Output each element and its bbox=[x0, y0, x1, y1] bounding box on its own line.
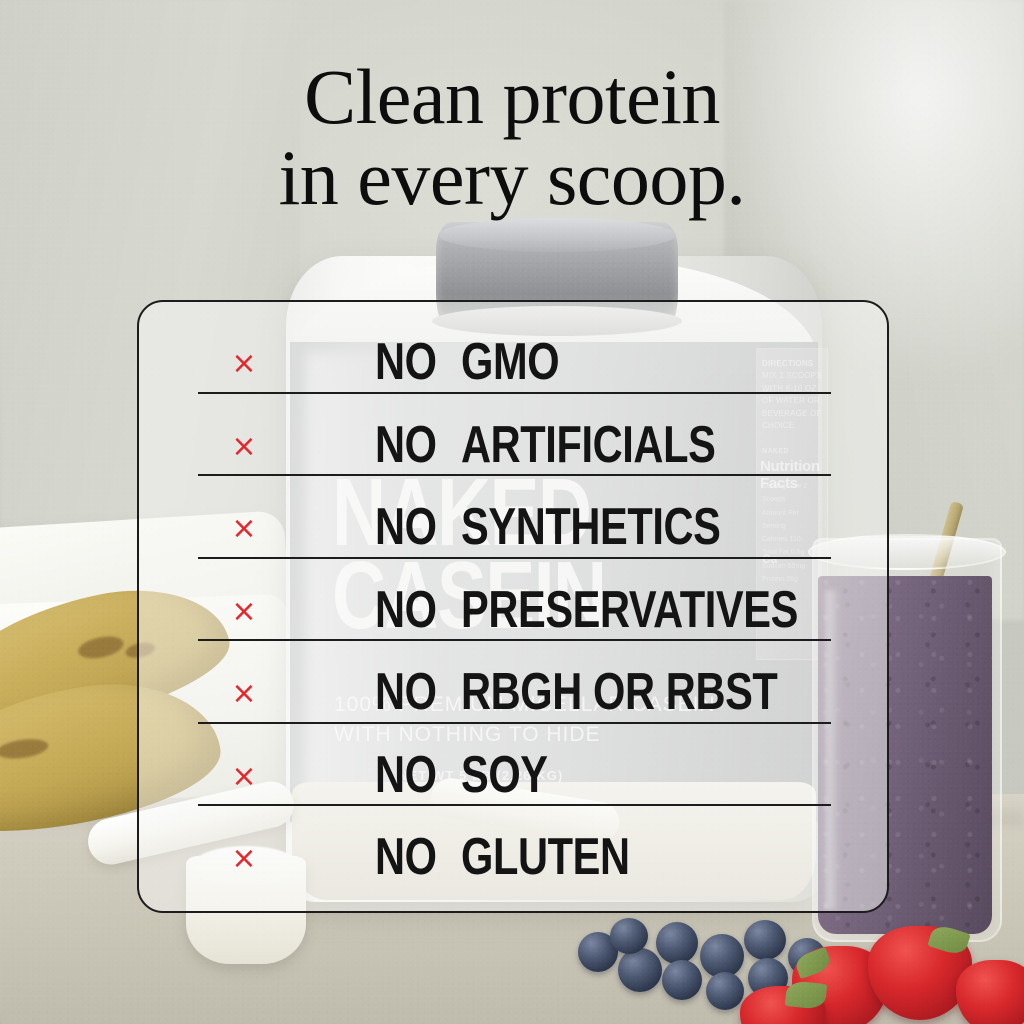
headline-line-2: in every scoop. bbox=[0, 141, 1024, 216]
blueberry bbox=[662, 960, 702, 1000]
claims-row-prefix: NO bbox=[375, 831, 444, 883]
claims-row-text: NOGMO bbox=[375, 336, 584, 388]
claims-row-text: NOGLUTEN bbox=[375, 831, 672, 883]
page-title: Clean protein in every scoop. bbox=[0, 60, 1024, 216]
claims-row-value: GMO bbox=[461, 336, 559, 388]
claims-row-prefix: NO bbox=[375, 336, 444, 388]
claims-row-separator bbox=[198, 557, 831, 559]
cross-icon: × bbox=[227, 679, 261, 709]
claims-row: ×NORBGH OR RBST bbox=[137, 652, 889, 740]
claims-row-text: NOSOY bbox=[375, 749, 569, 801]
claims-row-prefix: NO bbox=[375, 584, 444, 636]
claims-row-text: NOPRESERVATIVES bbox=[375, 584, 882, 636]
blueberry bbox=[618, 948, 662, 992]
claims-row-prefix: NO bbox=[375, 419, 444, 471]
claims-row: ×NOSYNTHETICS bbox=[137, 487, 889, 575]
claims-row-value: SYNTHETICS bbox=[461, 501, 721, 553]
promo-graphic: NAKED CASEIN 100% PREMIUM MICELLAR CASEI… bbox=[0, 0, 1024, 1024]
claims-list: ×NOGMO×NOARTIFICIALS×NOSYNTHETICS×NOPRES… bbox=[137, 300, 889, 913]
blueberry bbox=[744, 920, 786, 960]
claims-row-value: RBGH OR RBST bbox=[461, 666, 777, 718]
claims-row-prefix: NO bbox=[375, 749, 444, 801]
claims-row-value: ARTIFICIALS bbox=[461, 419, 715, 471]
claims-row: ×NOGLUTEN bbox=[137, 817, 889, 905]
claims-row: ×NOARTIFICIALS bbox=[137, 405, 889, 493]
claims-row: ×NOPRESERVATIVES bbox=[137, 570, 889, 658]
claims-row-value: PRESERVATIVES bbox=[461, 584, 798, 636]
claims-row: ×NOGMO bbox=[137, 322, 889, 410]
claims-row-separator bbox=[198, 639, 831, 641]
claims-row: ×NOSOY bbox=[137, 735, 889, 823]
cross-icon: × bbox=[227, 432, 261, 462]
claims-row-text: NOARTIFICIALS bbox=[375, 419, 779, 471]
claims-row-separator bbox=[198, 722, 831, 724]
strawberry bbox=[956, 960, 1024, 1024]
claims-row-text: NOSYNTHETICS bbox=[375, 501, 785, 553]
cross-icon: × bbox=[227, 349, 261, 379]
cross-icon: × bbox=[227, 597, 261, 627]
cross-icon: × bbox=[227, 844, 261, 874]
blueberry bbox=[610, 918, 648, 954]
claims-row-prefix: NO bbox=[375, 666, 444, 718]
claims-row-separator bbox=[198, 804, 831, 806]
claims-row-value: GLUTEN bbox=[461, 831, 630, 883]
claims-row-prefix: NO bbox=[375, 501, 444, 553]
strawberry bbox=[740, 986, 826, 1024]
headline-line-1: Clean protein bbox=[0, 60, 1024, 135]
claims-row-value: SOY bbox=[461, 749, 548, 801]
blueberry bbox=[706, 972, 744, 1010]
tub-lid-top bbox=[438, 218, 676, 252]
claims-row-separator bbox=[198, 474, 831, 476]
cross-icon: × bbox=[227, 762, 261, 792]
claims-row-separator bbox=[198, 392, 831, 394]
strawberry-leaf bbox=[785, 980, 827, 1010]
blueberry bbox=[656, 922, 698, 964]
cross-icon: × bbox=[227, 514, 261, 544]
claims-row-text: NORBGH OR RBST bbox=[375, 666, 857, 718]
